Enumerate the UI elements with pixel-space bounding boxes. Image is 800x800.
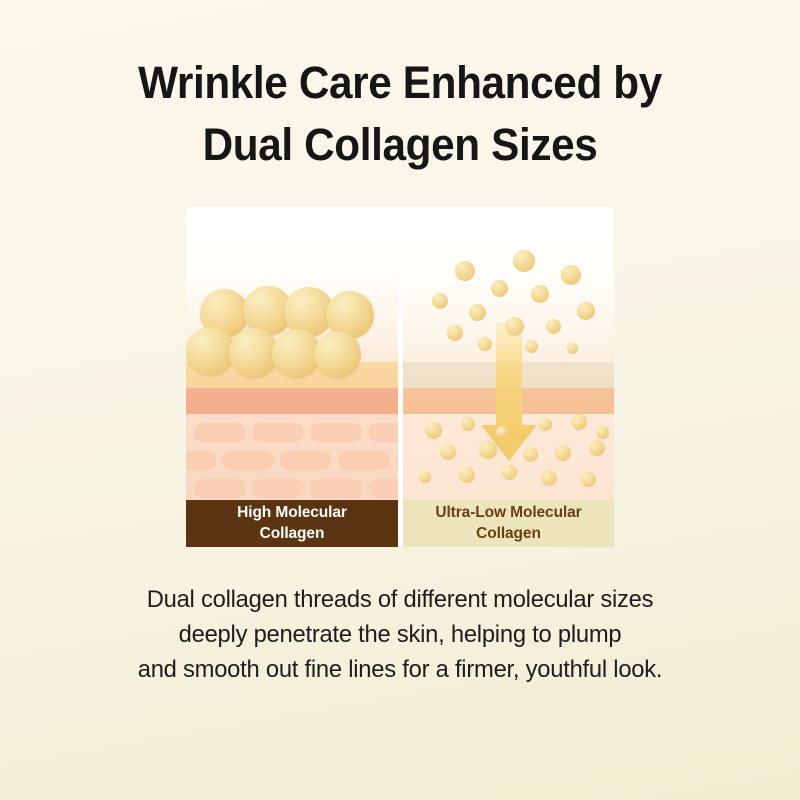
promotional-graphic: Wrinkle Care Enhanced by Dual Collagen S… [0, 0, 800, 800]
collagen-particle-small [531, 285, 549, 303]
collagen-particle-small [589, 440, 605, 456]
caption-ultra-low-molecular: Ultra-Low Molecular Collagen [403, 500, 614, 547]
description-line-3: and smooth out fine lines for a firmer, … [12, 653, 788, 688]
panel-high-molecular: High Molecular Collagen [186, 207, 398, 547]
dermis-cell [194, 479, 246, 498]
skin-layer-epidermis-lower [186, 388, 398, 414]
collagen-particle-small [571, 414, 587, 430]
dermis-cell [338, 451, 390, 470]
panel-ultra-low-molecular: Ultra-Low Molecular Collagen [403, 207, 614, 547]
description-paragraph: Dual collagen threads of different molec… [12, 583, 788, 687]
collagen-particle-small [455, 261, 475, 281]
dermis-cell [368, 479, 398, 498]
collagen-particle-small [440, 444, 456, 460]
caption-right-line-2: Collagen [435, 524, 581, 544]
dermis-cell [194, 423, 246, 442]
collagen-molecule-large [314, 331, 361, 378]
comparison-illustration: High Molecular Collagen [186, 207, 614, 547]
collagen-particle-small [479, 441, 497, 459]
caption-right-line-1: Ultra-Low Molecular [435, 503, 581, 523]
page-title: Wrinkle Care Enhanced by Dual Collagen S… [52, 52, 748, 176]
title-line-2: Dual Collagen Sizes [52, 114, 748, 176]
collagen-particle-small [419, 471, 431, 483]
collagen-particle-small [432, 293, 448, 309]
collagen-particle-small [555, 445, 571, 461]
collagen-particle-small [523, 447, 538, 462]
dermis-cell [186, 451, 216, 470]
collagen-particle-small [459, 467, 475, 483]
dermis-cell [280, 451, 332, 470]
caption-high-molecular: High Molecular Collagen [186, 500, 398, 547]
dermis-cell [310, 423, 362, 442]
collagen-particle-small [525, 340, 538, 353]
collagen-particle-small [491, 280, 508, 297]
collagen-particle-small [478, 337, 492, 351]
dermis-cell [396, 451, 398, 470]
description-line-1: Dual collagen threads of different molec… [12, 583, 788, 618]
collagen-particle-small [596, 426, 609, 439]
collagen-molecule-large [186, 327, 235, 376]
collagen-particle-small [561, 265, 581, 285]
collagen-particle-small [541, 470, 557, 486]
collagen-particle-small [425, 422, 442, 439]
collagen-particle-small [577, 302, 595, 320]
collagen-particle-small [539, 418, 552, 431]
collagen-particle-small [496, 426, 508, 438]
collagen-particle-small [546, 319, 561, 334]
collagen-particle-small [447, 325, 463, 341]
collagen-particle-small [505, 317, 524, 336]
dermis-cell [252, 423, 304, 442]
collagen-particle-small [513, 250, 535, 272]
collagen-particle-small [502, 465, 517, 480]
caption-left-line-1: High Molecular [237, 503, 347, 523]
skin-cross-section-left [186, 362, 398, 500]
dermis-cell [310, 479, 362, 498]
dermis-cell [252, 479, 304, 498]
dermis-cell-pattern [186, 414, 398, 500]
collagen-particle-small [567, 343, 578, 354]
dermis-cell [368, 423, 398, 442]
title-line-1: Wrinkle Care Enhanced by [52, 52, 748, 114]
arrow-shaft [496, 322, 522, 425]
collagen-particle-small [469, 304, 486, 321]
collagen-particle-small [461, 417, 475, 431]
collagen-particle-small [581, 472, 596, 487]
description-line-2: deeply penetrate the skin, helping to pl… [12, 618, 788, 653]
dermis-cell [222, 451, 274, 470]
caption-left-line-2: Collagen [237, 524, 347, 544]
